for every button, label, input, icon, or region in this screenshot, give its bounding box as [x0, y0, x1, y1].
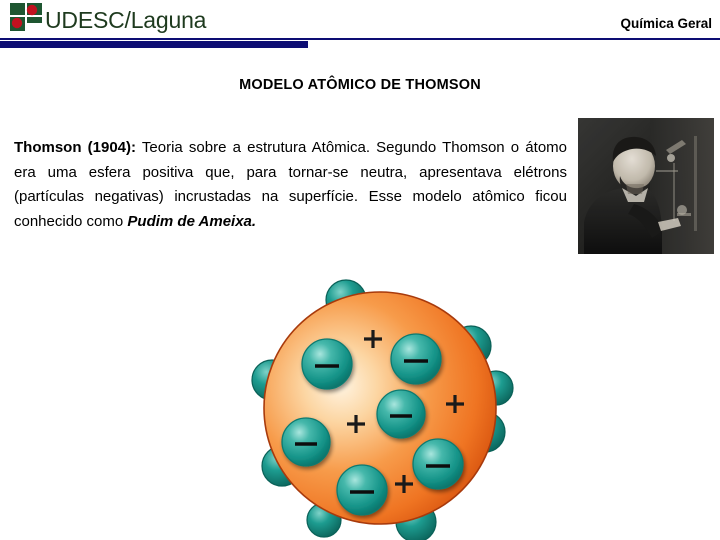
thomson-atom-diagram	[246, 270, 514, 540]
thomson-portrait-image	[578, 118, 714, 254]
body-emphasis: Pudim de Ameixa	[127, 213, 251, 230]
electron	[377, 390, 425, 438]
body-lead: Thomson (1904):	[14, 139, 136, 156]
header-rule-thin	[0, 38, 720, 40]
slide-body-text: Thomson (1904): Teoria sobre a estrutura…	[14, 136, 567, 234]
electron	[302, 339, 352, 389]
udesc-logo-icon	[8, 2, 44, 34]
electron	[282, 418, 330, 466]
electron	[337, 465, 387, 515]
electron	[391, 334, 441, 384]
institution-name: UDESC/Laguna	[45, 9, 206, 32]
slide-title: MODELO ATÔMICO DE THOMSON	[0, 77, 720, 93]
header-rule-thick	[0, 41, 308, 48]
body-text-part-2: .	[252, 213, 256, 230]
course-title: Química Geral	[620, 16, 712, 31]
slide-header: UDESC/Laguna Química Geral	[0, 0, 720, 56]
electron	[413, 439, 463, 489]
institution-logo: UDESC/Laguna	[8, 2, 206, 34]
